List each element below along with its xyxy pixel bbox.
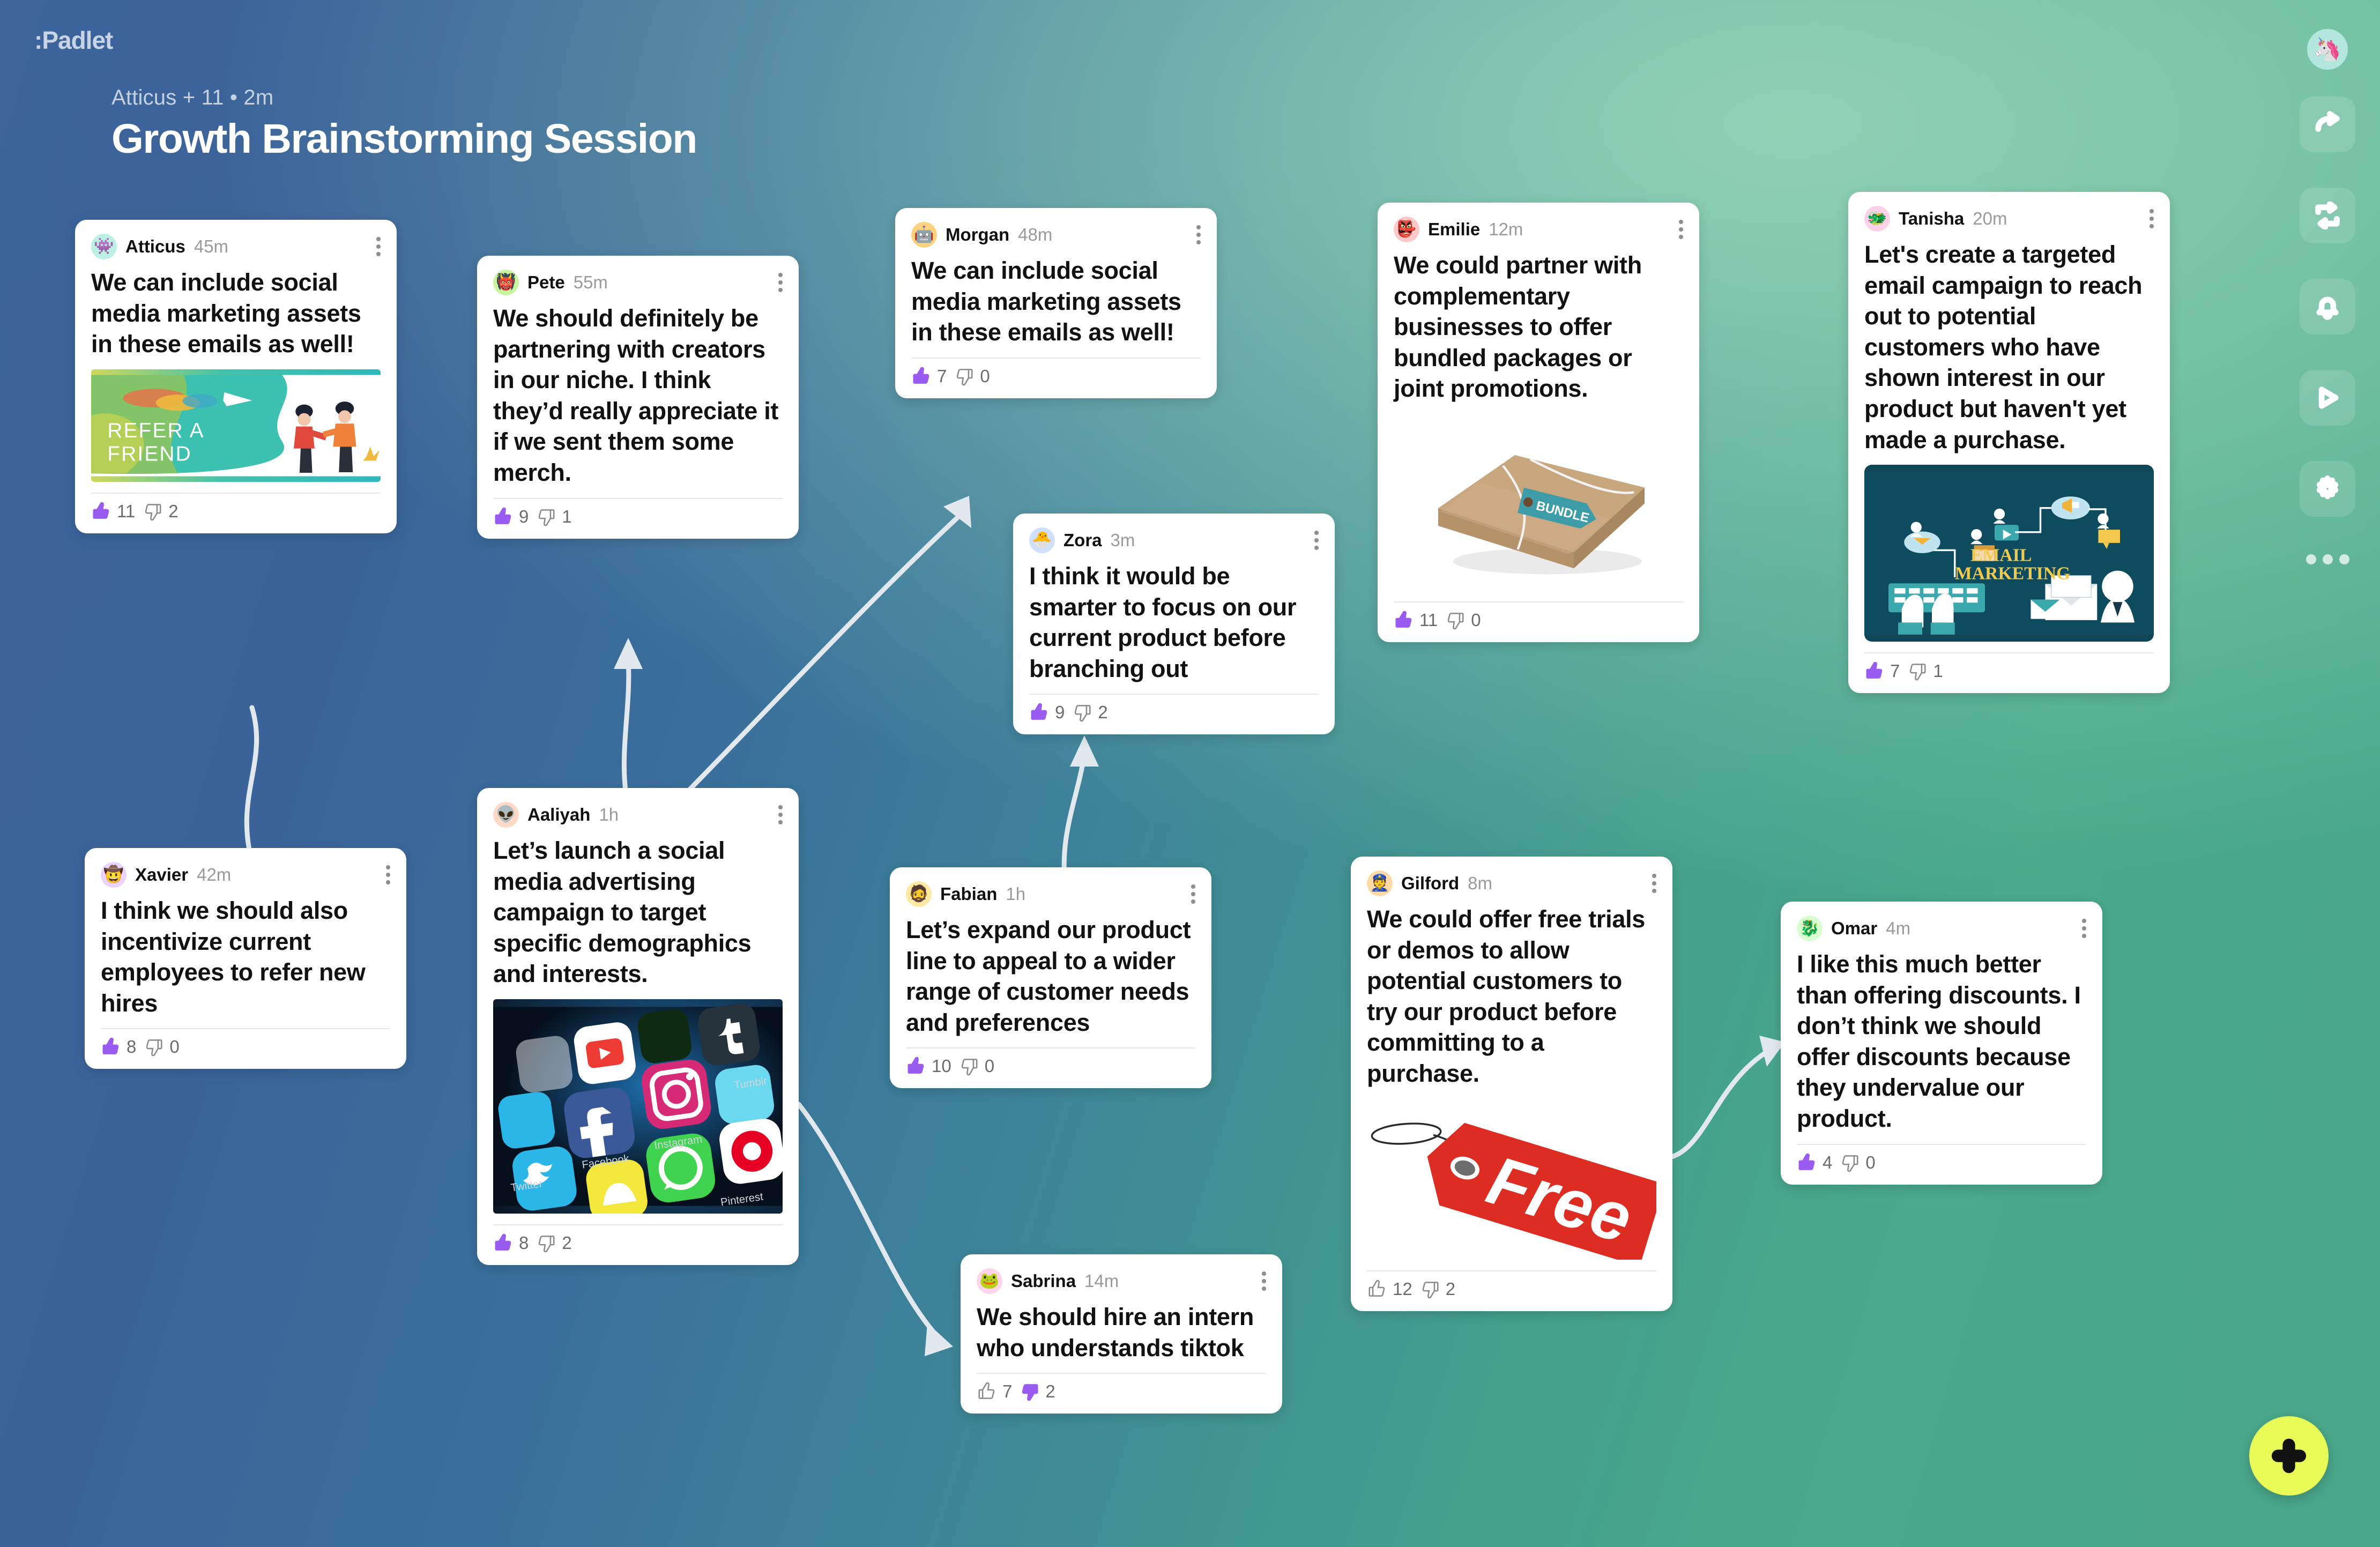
right-toolbar[interactable]: 🦄 (2294, 29, 2361, 564)
like-count: 7 (1002, 1381, 1012, 1402)
post-body: I think we should also incentivize curre… (101, 895, 390, 1018)
like-count: 8 (127, 1037, 136, 1057)
post-menu-icon[interactable] (2079, 916, 2089, 941)
dislike-button[interactable]: 0 (1445, 610, 1481, 630)
post-card-aaliyah[interactable]: 👽Aaliyah1hLet’s launch a social media ad… (477, 788, 799, 1265)
post-body: We could offer free trials or demos to a… (1367, 904, 1656, 1089)
post-timestamp: 55m (574, 272, 608, 293)
post-body: Let’s expand our product line to appeal … (906, 914, 1195, 1038)
dislike-count: 2 (562, 1233, 571, 1253)
post-author: Zora (1063, 530, 1102, 551)
divider (493, 1224, 783, 1225)
post-menu-icon[interactable] (383, 862, 393, 888)
dislike-button[interactable]: 1 (1907, 661, 1943, 681)
thumbs-up-icon[interactable] (911, 366, 932, 386)
like-count: 8 (519, 1233, 529, 1253)
avatar[interactable]: 🐲 (1864, 206, 1890, 232)
card-image-social-apps[interactable]: TwitterFacebookInstagramPinterestTumblr (493, 999, 783, 1214)
reaction-bar[interactable]: 110 (1394, 610, 1683, 630)
page-title: Growth Brainstorming Session (111, 115, 697, 163)
post-author: Morgan (946, 225, 1009, 245)
dislike-button[interactable]: 2 (143, 501, 178, 522)
avatar[interactable]: 🦄 (2307, 29, 2348, 70)
dislike-button[interactable]: 2 (1072, 702, 1107, 723)
like-count: 12 (1393, 1279, 1412, 1299)
thumbs-up-icon[interactable] (1864, 661, 1885, 681)
thumbs-up-icon[interactable] (1029, 702, 1050, 723)
like-count: 9 (519, 507, 529, 527)
post-card-tanisha[interactable]: 🐲Tanisha20mLet's create a targeted email… (1848, 192, 2170, 693)
thumbs-down-icon[interactable] (1445, 610, 1466, 630)
avatar[interactable]: 👮 (1367, 871, 1393, 896)
reaction-bar[interactable]: 122 (1367, 1279, 1656, 1299)
remake-icon[interactable] (2300, 188, 2355, 243)
divider (1367, 1270, 1656, 1271)
card-image-refer-a-friend[interactable]: REFER AFRIEND (91, 369, 381, 482)
post-body: We can include social media marketing as… (911, 255, 1201, 348)
thumbs-up-icon[interactable] (906, 1056, 926, 1076)
thumbs-down-icon[interactable] (959, 1056, 979, 1076)
reaction-bar[interactable]: 112 (91, 501, 381, 522)
post-body: We should hire an intern who understands… (977, 1301, 1266, 1363)
post-card-zora[interactable]: 🐣Zora3mI think it would be smarter to fo… (1013, 514, 1335, 734)
thumbs-up-icon[interactable] (101, 1037, 121, 1057)
thumbs-up-icon[interactable] (493, 507, 514, 527)
post-menu-icon[interactable] (1676, 217, 1686, 242)
post-menu-icon[interactable] (1188, 881, 1199, 907)
post-card-omar[interactable]: 🐉Omar4mI like this much better than offe… (1781, 902, 2102, 1185)
reaction-bar[interactable]: 71 (1864, 661, 2154, 681)
avatar[interactable]: 👺 (1394, 217, 1419, 242)
add-post-button[interactable] (2249, 1416, 2329, 1496)
thumbs-up-icon[interactable] (1394, 610, 1414, 630)
avatar[interactable]: 👽 (493, 802, 519, 828)
like-count: 10 (932, 1056, 951, 1076)
share-icon[interactable] (2300, 96, 2355, 152)
like-button[interactable]: 9 (1029, 702, 1065, 723)
dislike-count: 1 (562, 507, 571, 527)
avatar[interactable]: 🧔 (906, 881, 932, 907)
post-body: I think it would be smarter to focus on … (1029, 561, 1319, 684)
post-card-fabian[interactable]: 🧔Fabian1hLet’s expand our product line t… (890, 867, 1211, 1088)
post-header: 👺Emilie12m (1394, 217, 1683, 242)
avatar[interactable]: 🐉 (1797, 916, 1823, 941)
dislike-count: 2 (1446, 1279, 1455, 1299)
post-menu-icon[interactable] (2146, 206, 2157, 232)
padlet-logo[interactable]: :Padlet (34, 26, 113, 55)
like-button[interactable]: 4 (1797, 1152, 1832, 1173)
post-author: Xavier (135, 865, 188, 885)
post-menu-icon[interactable] (1259, 1268, 1269, 1294)
thumbs-down-icon[interactable] (1840, 1152, 1860, 1173)
gear-icon[interactable] (2300, 461, 2355, 517)
post-author: Aaliyah (527, 805, 590, 825)
like-count: 9 (1055, 702, 1065, 723)
post-header: 🐉Omar4m (1797, 916, 2086, 941)
post-timestamp: 45m (194, 236, 228, 257)
post-timestamp: 48m (1018, 225, 1052, 245)
dislike-button[interactable]: 0 (959, 1056, 994, 1076)
post-author: Tanisha (1899, 209, 1964, 229)
board-subtitle: Atticus + 11 • 2m (111, 86, 697, 110)
avatar[interactable]: 👾 (91, 234, 117, 259)
post-body: Let's create a targeted email campaign t… (1864, 239, 2154, 455)
board-header: Atticus + 11 • 2m Growth Brainstorming S… (111, 86, 697, 163)
thumbs-up-icon[interactable] (1797, 1152, 1817, 1173)
thumbs-down-icon[interactable] (1020, 1381, 1040, 1402)
post-menu-icon[interactable] (1193, 222, 1204, 248)
dislike-count: 0 (169, 1037, 179, 1057)
post-menu-icon[interactable] (775, 270, 786, 295)
like-button[interactable]: 8 (101, 1037, 136, 1057)
svg-text:EMAIL: EMAIL (1970, 546, 2032, 566)
reaction-bar[interactable]: 80 (101, 1037, 390, 1057)
like-count: 11 (1419, 610, 1438, 630)
like-button[interactable]: 12 (1367, 1279, 1412, 1299)
dislike-button[interactable]: 0 (954, 366, 990, 386)
thumbs-down-icon[interactable] (1907, 661, 1928, 681)
divider (91, 493, 381, 494)
like-count: 7 (1890, 661, 1900, 681)
dislike-count: 0 (1865, 1152, 1875, 1173)
divider (977, 1373, 1266, 1374)
like-button[interactable]: 7 (977, 1381, 1012, 1402)
post-body: We can include social media marketing as… (91, 267, 381, 360)
dislike-count: 1 (1933, 661, 1943, 681)
post-card-atticus[interactable]: 👾Atticus45mWe can include social media m… (75, 220, 397, 533)
post-timestamp: 14m (1084, 1271, 1119, 1291)
like-count: 11 (117, 501, 135, 522)
post-header: 🤠Xavier42m (101, 862, 390, 888)
avatar[interactable]: 🤠 (101, 862, 127, 888)
post-body: We could partner with complementary busi… (1394, 250, 1683, 404)
dislike-button[interactable]: 2 (536, 1233, 571, 1253)
dislike-button[interactable]: 2 (1420, 1279, 1455, 1299)
post-menu-icon[interactable] (1311, 527, 1322, 553)
post-card-sabrina[interactable]: 🐸Sabrina14mWe should hire an intern who … (961, 1254, 1282, 1414)
dislike-button[interactable]: 1 (536, 507, 571, 527)
post-header: 🤖Morgan48m (911, 222, 1201, 248)
thumbs-down-icon[interactable] (536, 1233, 556, 1253)
divider (906, 1047, 1195, 1048)
post-author: Gilford (1401, 873, 1459, 894)
like-button[interactable]: 11 (91, 501, 135, 522)
post-author: Atticus (125, 236, 185, 257)
play-icon[interactable] (2300, 370, 2355, 426)
like-button[interactable]: 7 (911, 366, 947, 386)
thumbs-down-icon[interactable] (1072, 702, 1092, 723)
avatar[interactable]: 🐸 (977, 1268, 1002, 1294)
card-image-bundle-package[interactable]: BUNDLE (1394, 414, 1683, 591)
post-author: Fabian (940, 884, 997, 904)
dislike-count: 2 (1045, 1381, 1055, 1402)
post-body: I like this much better than offering di… (1797, 949, 2086, 1134)
like-button[interactable]: 9 (493, 507, 529, 527)
like-button[interactable]: 7 (1864, 661, 1900, 681)
padlet-canvas[interactable]: :Padlet Atticus + 11 • 2m Growth Brainst… (0, 0, 2380, 1547)
like-button[interactable]: 8 (493, 1233, 529, 1253)
post-menu-icon[interactable] (775, 802, 786, 828)
post-body: We should definitely be partnering with … (493, 303, 783, 488)
reaction-bar[interactable]: 92 (1029, 702, 1319, 723)
card-image-email-marketing[interactable]: EMAILMARKETING (1864, 465, 2154, 642)
thumbs-down-icon[interactable] (143, 501, 163, 522)
reaction-bar[interactable]: 72 (977, 1381, 1266, 1402)
thumbs-down-icon[interactable] (536, 507, 556, 527)
reaction-bar[interactable]: 100 (906, 1056, 1195, 1076)
post-author: Emilie (1428, 219, 1480, 240)
post-timestamp: 3m (1111, 530, 1135, 551)
post-card-morgan[interactable]: 🤖Morgan48mWe can include social media ma… (895, 208, 1217, 398)
post-card-emilie[interactable]: 👺Emilie12mWe could partner with compleme… (1378, 203, 1699, 642)
avatar[interactable]: 🤖 (911, 222, 937, 248)
post-card-pete[interactable]: 👹Pete55mWe should definitely be partneri… (477, 256, 799, 539)
post-author: Pete (527, 272, 565, 293)
post-menu-icon[interactable] (373, 234, 384, 259)
thumbs-up-icon[interactable] (1367, 1279, 1387, 1299)
svg-text:REFER A: REFER A (107, 419, 204, 442)
dislike-button[interactable]: 0 (144, 1037, 179, 1057)
divider (911, 358, 1201, 359)
like-count: 4 (1823, 1152, 1832, 1173)
thumbs-down-icon[interactable] (1420, 1279, 1440, 1299)
more-icon[interactable] (2306, 554, 2349, 564)
reaction-bar[interactable]: 82 (493, 1233, 783, 1253)
dislike-button[interactable]: 0 (1840, 1152, 1875, 1173)
post-card-gilford[interactable]: 👮Gilford8mWe could offer free trials or … (1351, 857, 1672, 1311)
post-header: 👮Gilford8m (1367, 871, 1656, 896)
reaction-bar[interactable]: 40 (1797, 1152, 2086, 1173)
bell-icon[interactable] (2300, 279, 2355, 334)
like-count: 7 (937, 366, 947, 386)
card-image-free-tag[interactable]: Free (1367, 1099, 1656, 1260)
divider (1394, 601, 1683, 603)
post-card-xavier[interactable]: 🤠Xavier42mI think we should also incenti… (85, 848, 406, 1069)
divider (1864, 652, 2154, 653)
divider (1029, 694, 1319, 695)
post-header: 👾Atticus45m (91, 234, 381, 259)
post-timestamp: 4m (1886, 918, 1910, 939)
divider (493, 498, 783, 499)
dislike-button[interactable]: 2 (1020, 1381, 1055, 1402)
post-body: Let’s launch a social media advertising … (493, 835, 783, 990)
divider (101, 1028, 390, 1029)
reaction-bar[interactable]: 70 (911, 366, 1201, 386)
post-timestamp: 8m (1468, 873, 1492, 894)
post-timestamp: 1h (1006, 884, 1025, 904)
post-author: Sabrina (1011, 1271, 1076, 1291)
dislike-count: 0 (1471, 610, 1481, 630)
thumbs-up-icon[interactable] (977, 1381, 997, 1402)
post-header: 🐲Tanisha20m (1864, 206, 2154, 232)
post-timestamp: 42m (197, 865, 231, 885)
divider (1797, 1144, 2086, 1145)
post-header: 👹Pete55m (493, 270, 783, 295)
post-header: 🧔Fabian1h (906, 881, 1195, 907)
svg-text:MARKETING: MARKETING (1955, 564, 2071, 584)
post-timestamp: 12m (1489, 219, 1523, 240)
avatar[interactable]: 👹 (493, 270, 519, 295)
post-header: 🐸Sabrina14m (977, 1268, 1266, 1294)
dislike-count: 0 (985, 1056, 994, 1076)
post-header: 👽Aaliyah1h (493, 802, 783, 828)
like-button[interactable]: 11 (1394, 610, 1438, 630)
like-button[interactable]: 10 (906, 1056, 951, 1076)
thumbs-down-icon[interactable] (954, 366, 975, 386)
dislike-count: 2 (168, 501, 178, 522)
dislike-count: 2 (1098, 702, 1107, 723)
post-timestamp: 20m (1973, 209, 2007, 229)
post-timestamp: 1h (599, 805, 619, 825)
thumbs-down-icon[interactable] (144, 1037, 164, 1057)
post-header: 🐣Zora3m (1029, 527, 1319, 553)
reaction-bar[interactable]: 91 (493, 507, 783, 527)
thumbs-up-icon[interactable] (493, 1233, 514, 1253)
dislike-count: 0 (980, 366, 990, 386)
svg-text:FRIEND: FRIEND (107, 442, 192, 465)
post-author: Omar (1831, 918, 1877, 939)
post-menu-icon[interactable] (1649, 871, 1660, 896)
thumbs-up-icon[interactable] (91, 501, 111, 522)
avatar[interactable]: 🐣 (1029, 527, 1055, 553)
